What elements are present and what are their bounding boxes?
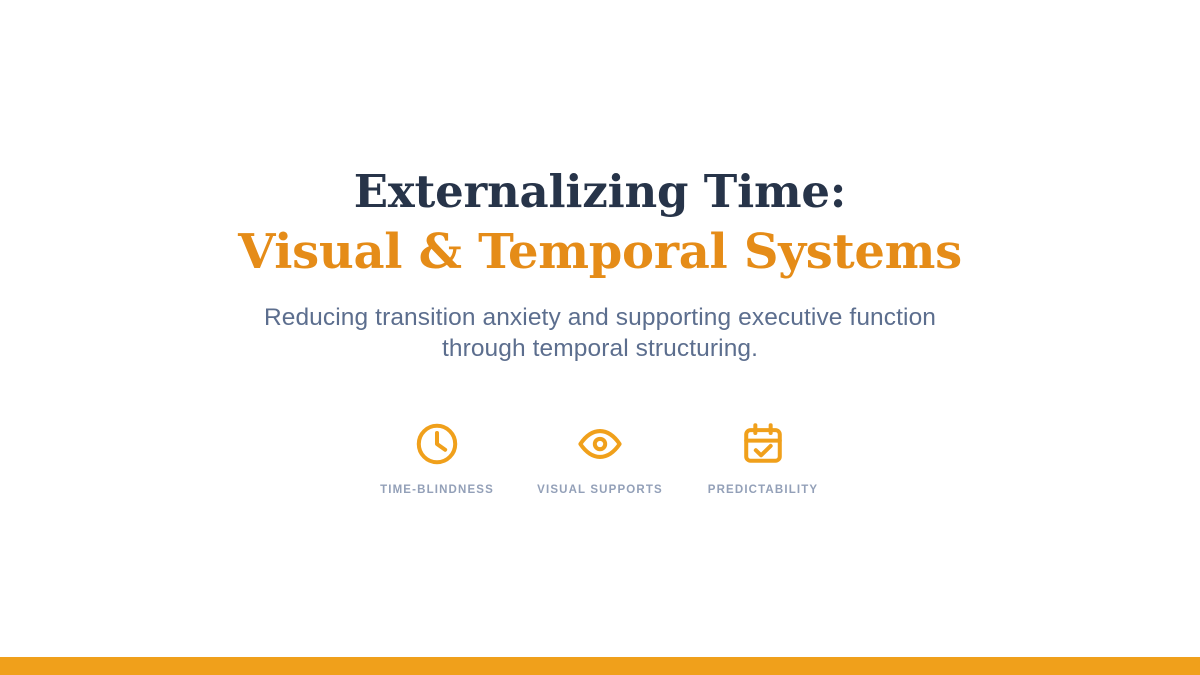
title-line-accent: Visual & Temporal Systems bbox=[238, 222, 962, 282]
subtitle-text: Reducing transition anxiety and supporti… bbox=[220, 302, 980, 364]
slide-content: Externalizing Time: Visual & Temporal Sy… bbox=[0, 0, 1200, 675]
feature-item-predictability: PREDICTABILITY bbox=[682, 420, 845, 496]
feature-item-time-blindness: TIME-BLINDNESS bbox=[356, 420, 519, 496]
title-line-primary: Externalizing Time: bbox=[238, 162, 962, 222]
page-title: Externalizing Time: Visual & Temporal Sy… bbox=[238, 162, 962, 282]
feature-item-visual-supports: VISUAL SUPPORTS bbox=[519, 420, 682, 496]
feature-icon-row: TIME-BLINDNESS VISUAL SUPPORTS bbox=[356, 420, 845, 496]
calendar-check-icon bbox=[739, 420, 787, 468]
bottom-accent-bar bbox=[0, 657, 1200, 675]
clock-icon bbox=[413, 420, 461, 468]
feature-label-time-blindness: TIME-BLINDNESS bbox=[380, 484, 494, 496]
feature-label-visual-supports: VISUAL SUPPORTS bbox=[537, 484, 663, 496]
title-slide: Externalizing Time: Visual & Temporal Sy… bbox=[0, 0, 1200, 675]
feature-label-predictability: PREDICTABILITY bbox=[708, 484, 818, 496]
eye-icon bbox=[576, 420, 624, 468]
